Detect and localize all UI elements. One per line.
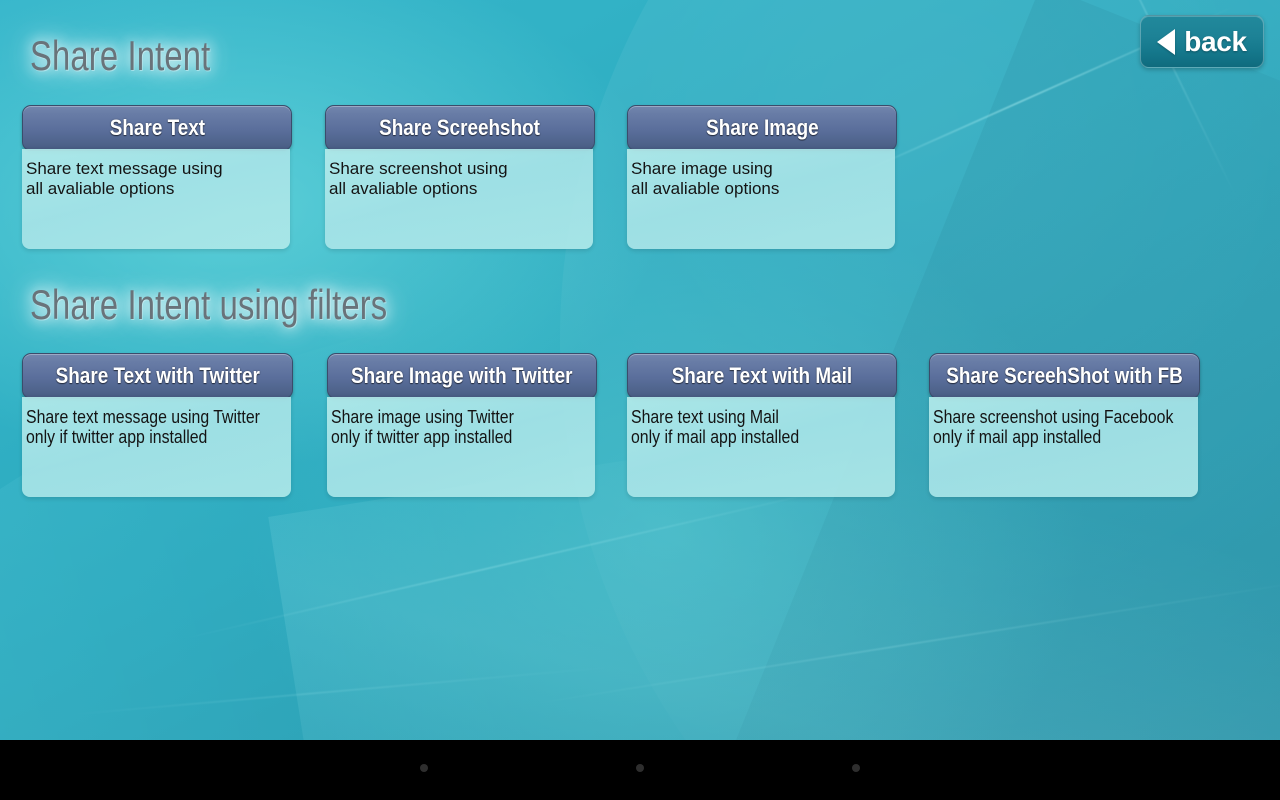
back-button-label: back [1184,26,1247,58]
card-body: Share text message using all avaliable o… [22,149,290,249]
card-body: Share text using Mail only if mail app i… [627,397,895,497]
card-description: Share text using Mail only if mail app i… [631,407,799,447]
share-screenshot-button[interactable]: Share Screehshot [325,105,595,151]
nav-back-dot-icon[interactable] [420,764,428,772]
share-screenshot-button-label: Share Screehshot [380,115,541,141]
card-description: Share image using Twitter only if twitte… [331,407,514,447]
share-screenshot-with-fb-button-label: Share ScreehShot with FB [946,363,1183,389]
nav-home-dot-icon[interactable] [636,764,644,772]
back-button[interactable]: back [1140,15,1264,68]
card-body: Share text message using Twitter only if… [22,397,291,497]
share-text-with-mail-button[interactable]: Share Text with Mail [627,353,897,399]
share-text-button-label: Share Text [109,115,204,141]
card-body: Share screenshot using all avaliable opt… [325,149,593,249]
card-description: Share screenshot using Facebook only if … [933,407,1173,447]
share-image-button-label: Share Image [706,115,819,141]
card-description-line-2: only if twitter app installed [331,427,514,447]
card-description: Share text message using Twitter only if… [26,407,260,447]
section-heading-share-intent-using-filters: Share Intent using filters [30,281,387,329]
android-tablet-screen: back Share Intent Share Text Share text … [0,0,1280,800]
card-description-line-2: all avaliable options [329,179,508,199]
background-streak-5 [61,666,619,717]
card-description-line-1: Share image using [631,159,779,179]
share-screenshot-with-fb-button[interactable]: Share ScreehShot with FB [929,353,1200,399]
card-description-line-2: only if twitter app installed [26,427,260,447]
share-image-with-twitter-button-label: Share Image with Twitter [351,363,572,389]
card-description: Share screenshot using all avaliable opt… [329,159,508,199]
share-image-with-twitter-button[interactable]: Share Image with Twitter [327,353,597,399]
card-description-line-2: only if mail app installed [631,427,799,447]
card-description-line-2: all avaliable options [631,179,779,199]
share-text-with-twitter-button-label: Share Text with Twitter [55,363,259,389]
background-streak-3 [179,481,862,640]
section-heading-share-intent: Share Intent [30,32,210,80]
card-description-line-1: Share text message using Twitter [26,407,260,427]
share-image-button[interactable]: Share Image [627,105,897,151]
card-body: Share image using Twitter only if twitte… [327,397,595,497]
card-body: Share image using all avaliable options [627,149,895,249]
share-text-with-twitter-button[interactable]: Share Text with Twitter [22,353,293,399]
card-description-line-1: Share text message using [26,159,223,179]
card-description-line-1: Share screenshot using Facebook [933,407,1173,427]
card-description-line-2: only if mail app installed [933,427,1173,447]
triangle-left-icon [1157,29,1175,55]
share-text-button[interactable]: Share Text [22,105,292,151]
nav-recents-dot-icon[interactable] [852,764,860,772]
card-description-line-1: Share text using Mail [631,407,799,427]
card-description: Share image using all avaliable options [631,159,779,199]
card-body: Share screenshot using Facebook only if … [929,397,1198,497]
card-description-line-1: Share image using Twitter [331,407,514,427]
card-description-line-1: Share screenshot using [329,159,508,179]
card-description-line-2: all avaliable options [26,179,223,199]
share-text-with-mail-button-label: Share Text with Mail [672,363,852,389]
card-description: Share text message using all avaliable o… [26,159,223,199]
